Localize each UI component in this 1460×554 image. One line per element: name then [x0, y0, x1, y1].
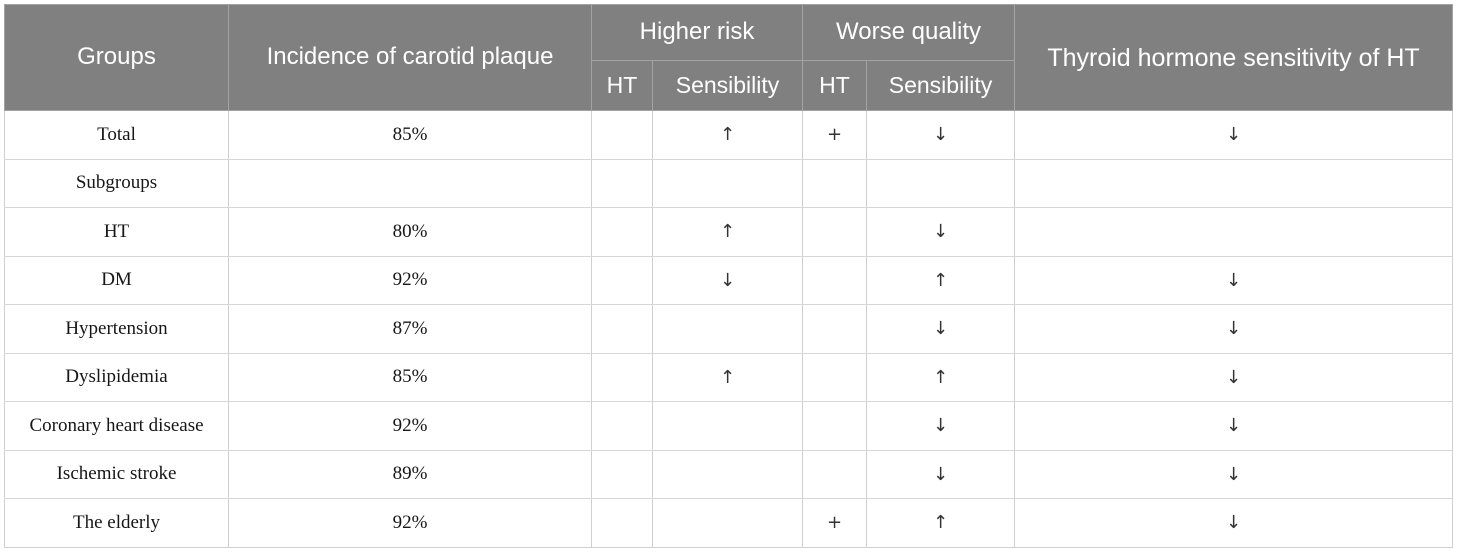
- cell-worse-quality-ht: +: [803, 111, 867, 160]
- cell-group: Total: [5, 111, 229, 160]
- cell-higher-risk-ht: [592, 353, 653, 402]
- cell-incidence: 89%: [229, 450, 592, 499]
- cell-group: Subgroups: [5, 159, 229, 208]
- cell-worse-quality-sensibility: ↓: [867, 450, 1015, 499]
- cell-thyroid-sensitivity: ↓: [1015, 353, 1453, 402]
- cell-worse-quality-ht: +: [803, 499, 867, 548]
- cell-incidence: 92%: [229, 256, 592, 305]
- cell-higher-risk-sensibility: [653, 402, 803, 451]
- table-row: The elderly92%+↑↓: [5, 499, 1453, 548]
- cell-thyroid-sensitivity: ↓: [1015, 256, 1453, 305]
- column-header-incidence: Incidence of carotid plaque: [229, 5, 592, 111]
- table-row: Hypertension87%↓↓: [5, 305, 1453, 354]
- cell-worse-quality-sensibility: [867, 159, 1015, 208]
- cell-higher-risk-sensibility: [653, 159, 803, 208]
- table-row: Ischemic stroke89%↓↓: [5, 450, 1453, 499]
- column-header-worse-quality-ht: HT: [803, 61, 867, 111]
- cell-group: The elderly: [5, 499, 229, 548]
- column-header-worse-quality-sensibility: Sensibility: [867, 61, 1015, 111]
- cell-higher-risk-ht: [592, 208, 653, 257]
- cell-higher-risk-ht: [592, 159, 653, 208]
- cell-worse-quality-sensibility: ↑: [867, 353, 1015, 402]
- cell-higher-risk-ht: [592, 305, 653, 354]
- cell-higher-risk-ht: [592, 256, 653, 305]
- carotid-plaque-table: Groups Incidence of carotid plaque Highe…: [4, 4, 1453, 548]
- cell-thyroid-sensitivity: [1015, 208, 1453, 257]
- cell-worse-quality-sensibility: ↑: [867, 499, 1015, 548]
- cell-group: HT: [5, 208, 229, 257]
- cell-higher-risk-sensibility: ↑: [653, 111, 803, 160]
- table-container: Groups Incidence of carotid plaque Highe…: [4, 4, 1454, 548]
- cell-group: Ischemic stroke: [5, 450, 229, 499]
- cell-worse-quality-sensibility: ↑: [867, 256, 1015, 305]
- column-header-higher-risk-ht: HT: [592, 61, 653, 111]
- cell-higher-risk-ht: [592, 402, 653, 451]
- column-header-worse-quality: Worse quality: [803, 5, 1015, 61]
- cell-higher-risk-ht: [592, 450, 653, 499]
- cell-group: Coronary heart disease: [5, 402, 229, 451]
- cell-incidence: 87%: [229, 305, 592, 354]
- table-row: Dyslipidemia85%↑↑↓: [5, 353, 1453, 402]
- cell-group: Dyslipidemia: [5, 353, 229, 402]
- cell-worse-quality-sensibility: ↓: [867, 305, 1015, 354]
- cell-incidence: 85%: [229, 353, 592, 402]
- column-header-higher-risk: Higher risk: [592, 5, 803, 61]
- cell-worse-quality-sensibility: ↓: [867, 208, 1015, 257]
- cell-worse-quality-ht: [803, 256, 867, 305]
- table-row: Total85%↑+↓↓: [5, 111, 1453, 160]
- cell-thyroid-sensitivity: [1015, 159, 1453, 208]
- cell-incidence: 92%: [229, 402, 592, 451]
- cell-group: Hypertension: [5, 305, 229, 354]
- cell-higher-risk-sensibility: [653, 450, 803, 499]
- table-body: Total85%↑+↓↓SubgroupsHT80%↑↓DM92%↓↑↓Hype…: [5, 111, 1453, 548]
- cell-incidence: 80%: [229, 208, 592, 257]
- cell-worse-quality-ht: [803, 402, 867, 451]
- cell-worse-quality-ht: [803, 353, 867, 402]
- cell-incidence: [229, 159, 592, 208]
- column-header-groups: Groups: [5, 5, 229, 111]
- cell-thyroid-sensitivity: ↓: [1015, 111, 1453, 160]
- cell-higher-risk-sensibility: [653, 499, 803, 548]
- cell-incidence: 92%: [229, 499, 592, 548]
- cell-thyroid-sensitivity: ↓: [1015, 402, 1453, 451]
- cell-thyroid-sensitivity: ↓: [1015, 305, 1453, 354]
- table-header: Groups Incidence of carotid plaque Highe…: [5, 5, 1453, 111]
- cell-incidence: 85%: [229, 111, 592, 160]
- cell-worse-quality-sensibility: ↓: [867, 402, 1015, 451]
- cell-higher-risk-ht: [592, 111, 653, 160]
- cell-worse-quality-ht: [803, 208, 867, 257]
- cell-higher-risk-sensibility: ↑: [653, 353, 803, 402]
- cell-higher-risk-sensibility: ↑: [653, 208, 803, 257]
- table-row: DM92%↓↑↓: [5, 256, 1453, 305]
- cell-thyroid-sensitivity: ↓: [1015, 499, 1453, 548]
- table-row: Subgroups: [5, 159, 1453, 208]
- cell-higher-risk-sensibility: ↓: [653, 256, 803, 305]
- table-row: Coronary heart disease92%↓↓: [5, 402, 1453, 451]
- cell-worse-quality-ht: [803, 159, 867, 208]
- cell-group: DM: [5, 256, 229, 305]
- cell-worse-quality-ht: [803, 305, 867, 354]
- header-row-top: Groups Incidence of carotid plaque Highe…: [5, 5, 1453, 61]
- cell-worse-quality-ht: [803, 450, 867, 499]
- cell-worse-quality-sensibility: ↓: [867, 111, 1015, 160]
- cell-higher-risk-ht: [592, 499, 653, 548]
- cell-higher-risk-sensibility: [653, 305, 803, 354]
- cell-thyroid-sensitivity: ↓: [1015, 450, 1453, 499]
- column-header-higher-risk-sensibility: Sensibility: [653, 61, 803, 111]
- column-header-thyroid-sensitivity: Thyroid hormone sensitivity of HT: [1015, 5, 1453, 111]
- table-row: HT80%↑↓: [5, 208, 1453, 257]
